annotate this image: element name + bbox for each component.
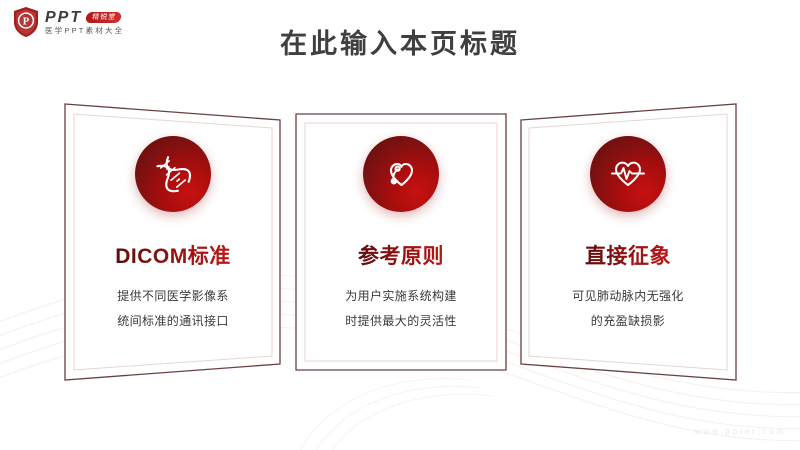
card-direct-sign[interactable]: 直接征象 可见肺动脉内无强化 的充盈缺损影 (517, 98, 739, 386)
card-reference-principle[interactable]: 参考原则 为用户实施系统构建 时提供最大的灵活性 (290, 98, 512, 386)
card-description-line: 提供不同医学影像系 (85, 284, 261, 309)
card-description-line: 可见肺动脉内无强化 (540, 284, 716, 309)
card-heading: 参考原则 (358, 240, 444, 270)
card-dicom[interactable]: DICOM标准 提供不同医学影像系 统间标准的通讯接口 (62, 98, 284, 386)
card-description: 可见肺动脉内无强化 的充盈缺损影 (540, 284, 716, 334)
card-description-line: 统间标准的通讯接口 (85, 309, 261, 334)
card-heading: 直接征象 (585, 240, 671, 270)
card-description-line: 的充盈缺损影 (540, 309, 716, 334)
dna-helix-icon (135, 136, 211, 212)
card-description: 提供不同医学影像系 统间标准的通讯接口 (85, 284, 261, 334)
cards-row: DICOM标准 提供不同医学影像系 统间标准的通讯接口 (0, 98, 800, 388)
card-description-line: 时提供最大的灵活性 (313, 309, 489, 334)
stethoscope-heart-icon (363, 136, 439, 212)
page-title: 在此输入本页标题 (0, 22, 800, 61)
card-description-line: 为用户实施系统构建 (313, 284, 489, 309)
card-heading: DICOM标准 (115, 240, 231, 270)
watermark: www.ppter.com (695, 426, 786, 436)
heart-ecg-icon (590, 136, 666, 212)
card-description: 为用户实施系统构建 时提供最大的灵活性 (313, 284, 489, 334)
